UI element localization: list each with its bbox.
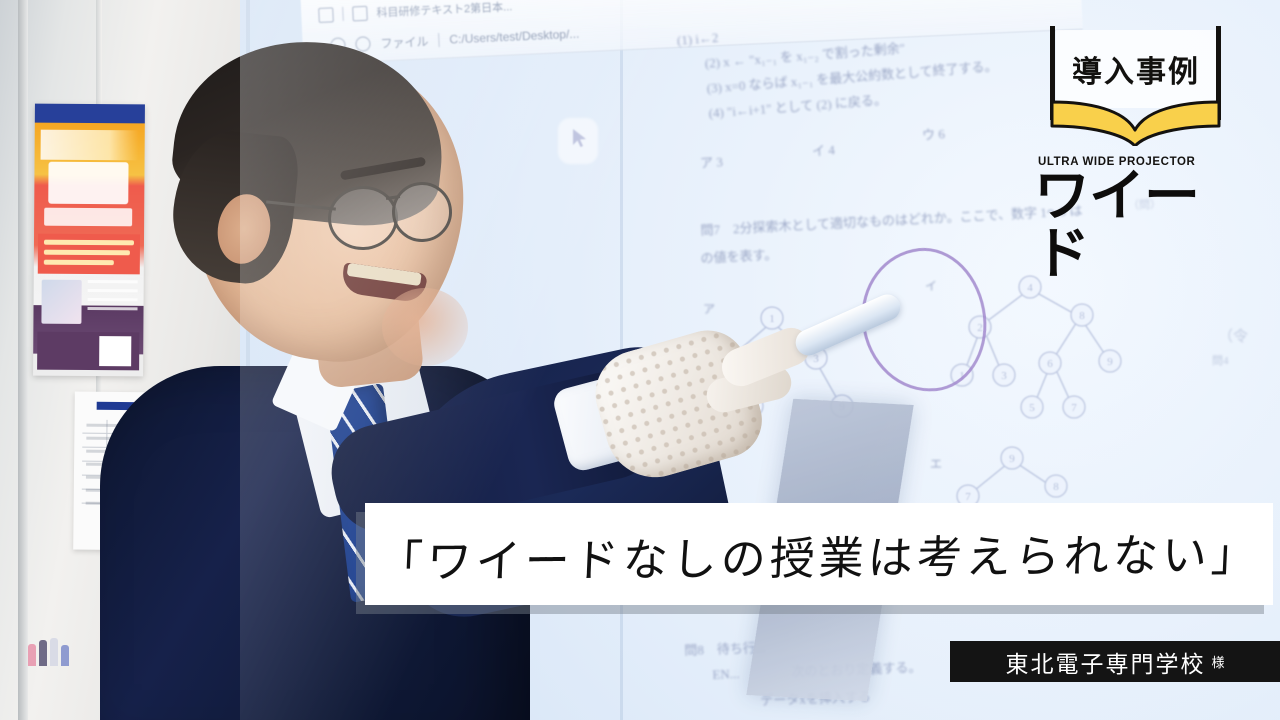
figurine bbox=[39, 640, 47, 666]
client-honorific: 様 bbox=[1211, 652, 1224, 671]
headline-text: 「ワイードなしの授業は考えられない」 bbox=[376, 518, 1261, 591]
answer-label-i: イ 4 bbox=[811, 139, 835, 160]
client-name-bar: 東北電子専門学校 様 bbox=[950, 641, 1280, 682]
hero-image-canvas: 科目研修テキスト2第日本... ファイル C:/Users/test/Deskt… bbox=[0, 0, 1280, 720]
right-margin-question-note: 問4 bbox=[1212, 352, 1229, 368]
desk-figurines bbox=[28, 636, 74, 666]
svg-text:7: 7 bbox=[1071, 402, 1077, 414]
case-study-book-badge: 導入事例 bbox=[1032, 24, 1238, 152]
svg-text:3: 3 bbox=[1001, 370, 1007, 382]
svg-text:6: 6 bbox=[1047, 358, 1053, 370]
figurine bbox=[50, 638, 58, 666]
svg-text:8: 8 bbox=[1079, 310, 1085, 322]
wall-edge bbox=[18, 0, 28, 720]
client-name: 東北電子専門学校 bbox=[1005, 645, 1205, 679]
figurine bbox=[28, 644, 36, 666]
divider bbox=[342, 7, 344, 21]
svg-text:8: 8 bbox=[1053, 481, 1059, 493]
figurine bbox=[61, 645, 69, 666]
cheek-highlight bbox=[382, 288, 468, 366]
answer-label-u: ウ 6 bbox=[921, 123, 945, 144]
poster-photo bbox=[41, 280, 81, 324]
headline-banner: 「ワイードなしの授業は考えられない」 bbox=[365, 503, 1273, 605]
browser-tab-title: 科目研修テキスト2第日本... bbox=[376, 0, 513, 20]
svg-text:7: 7 bbox=[965, 491, 971, 503]
case-study-label: 導入事例 bbox=[1072, 47, 1200, 91]
product-name: ワイード bbox=[1032, 168, 1252, 284]
document-icon bbox=[352, 5, 368, 21]
right-margin-bracket-note: （令 bbox=[1218, 325, 1248, 346]
svg-text:9: 9 bbox=[1009, 453, 1015, 465]
svg-text:9: 9 bbox=[1107, 356, 1113, 368]
case-study-title-box: 導入事例 bbox=[1056, 30, 1216, 108]
wide-product-logo: 導入事例 ULTRA WIDE PROJECTOR ワイード bbox=[1032, 24, 1252, 224]
svg-text:1: 1 bbox=[769, 313, 775, 325]
svg-text:3: 3 bbox=[813, 353, 819, 365]
svg-text:5: 5 bbox=[1029, 402, 1035, 414]
option-label-e: エ bbox=[930, 455, 942, 472]
open-book-pages-icon bbox=[1050, 100, 1221, 146]
window-icon bbox=[318, 7, 334, 23]
